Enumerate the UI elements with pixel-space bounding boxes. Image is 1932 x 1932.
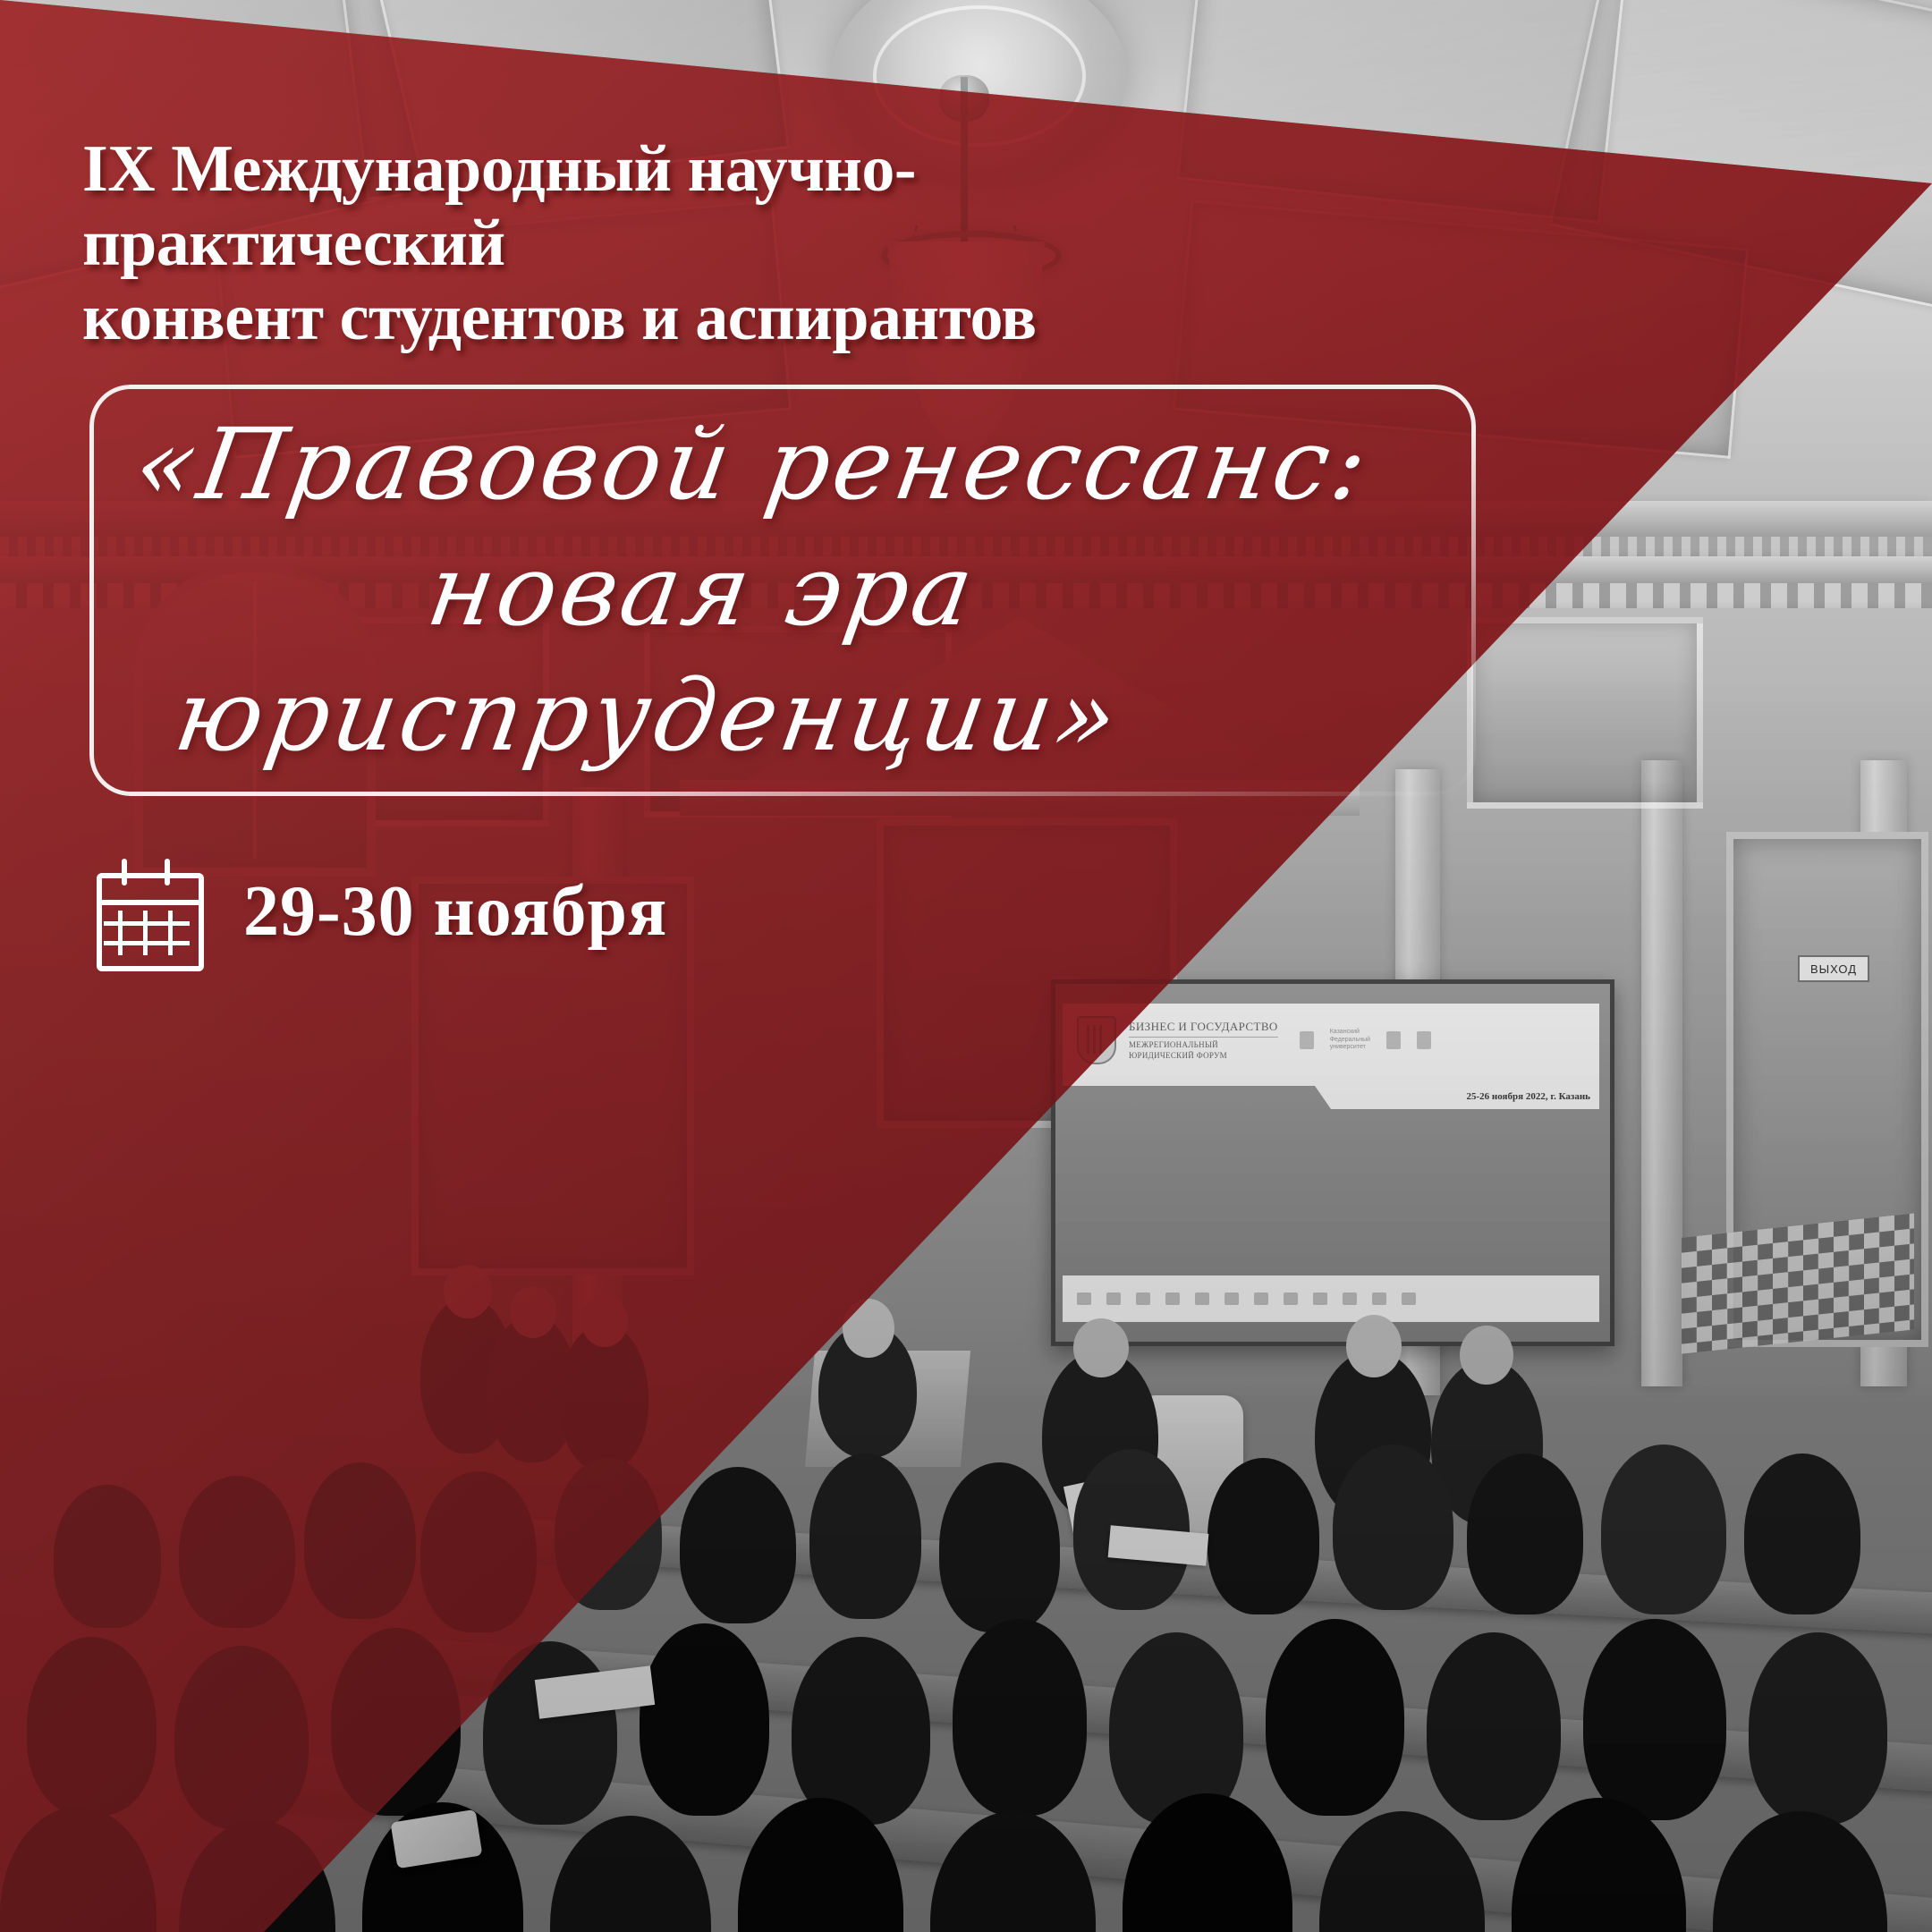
title-line-2: конвент студентов и аспирантов — [82, 281, 1335, 355]
event-poster: ВЫХОД БИЗНЕС И ГОСУДАРСТВО МЕЖРЕГИОНАЛЬН… — [0, 0, 1932, 1932]
calendar-ring — [122, 859, 127, 885]
theme-line-3: юриспруденции» — [69, 653, 1457, 779]
calendar-grid-line — [143, 911, 148, 955]
calendar-grid-line — [168, 911, 173, 955]
event-date-label: 29-30 ноября — [243, 871, 667, 953]
title-line-1: IX Международный научно-практический — [82, 132, 916, 280]
theme-line-1: «Правовой ренессанс: — [108, 402, 1496, 528]
calendar-grid-line — [104, 941, 190, 945]
event-date-row: 29-30 ноября — [97, 859, 667, 964]
calendar-grid-line — [118, 911, 123, 955]
calendar-icon — [97, 859, 208, 964]
calendar-grid-line — [104, 921, 190, 926]
calendar-ring — [165, 859, 170, 885]
theme-text: «Правовой ренессанс: новая эра юриспруде… — [67, 394, 1498, 787]
calendar-header-bar — [102, 900, 199, 905]
page-title: IX Международный научно-практический кон… — [82, 132, 1335, 355]
theme-line-2: новая эра — [89, 528, 1477, 654]
